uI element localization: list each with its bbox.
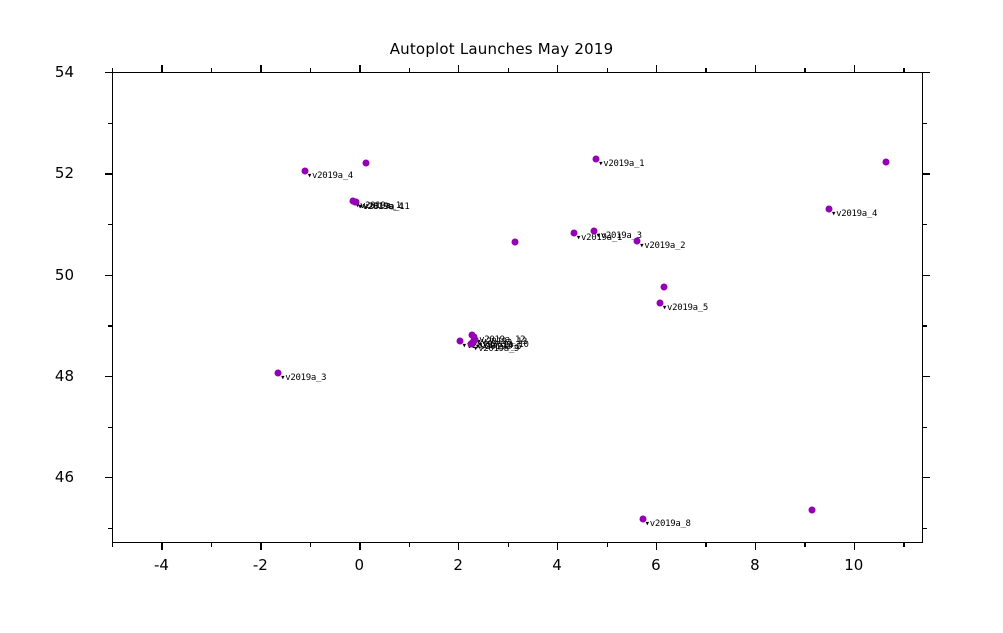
- y-axis-minor-tick-right: [923, 528, 927, 529]
- y-axis-minor-tick-right: [923, 224, 927, 225]
- y-axis-minor-tick: [108, 123, 112, 124]
- x-axis-minor-tick: [508, 543, 509, 547]
- y-axis-minor-tick-right: [923, 325, 927, 326]
- x-axis-tick-label: 4: [552, 556, 562, 574]
- y-axis-minor-tick: [108, 427, 112, 428]
- x-axis-tick-label: 10: [844, 556, 863, 574]
- x-axis-tick: [755, 543, 756, 550]
- y-axis-tick-right: [923, 173, 930, 174]
- y-axis-tick-label: 48: [55, 367, 74, 385]
- x-axis-minor-tick: [310, 543, 311, 547]
- x-axis-tick: [458, 543, 459, 550]
- y-axis-tick-label: 46: [55, 468, 74, 486]
- y-axis-tick: [105, 376, 112, 377]
- x-axis-tick: [260, 543, 261, 550]
- x-axis-minor-tick-top: [903, 68, 904, 72]
- x-axis-tick-label: 6: [651, 556, 661, 574]
- x-axis-minor-tick: [804, 543, 805, 547]
- x-axis-tick-label: 2: [453, 556, 463, 574]
- x-axis-minor-tick-top: [112, 68, 113, 72]
- x-axis-tick-top: [260, 65, 261, 72]
- x-axis-tick-top: [458, 65, 459, 72]
- x-axis-tick: [557, 543, 558, 550]
- y-axis-tick: [105, 173, 112, 174]
- y-axis-tick: [105, 275, 112, 276]
- y-axis-tick-label: 52: [55, 164, 74, 182]
- y-axis-minor-tick-right: [923, 123, 927, 124]
- y-axis-minor-tick-right: [923, 427, 927, 428]
- x-axis-tick: [854, 543, 855, 550]
- x-axis-tick-top: [359, 65, 360, 72]
- x-axis-minor-tick-top: [211, 68, 212, 72]
- x-axis-minor-tick-top: [804, 68, 805, 72]
- x-axis-minor-tick-top: [508, 68, 509, 72]
- x-axis-tick-label: -4: [154, 556, 169, 574]
- x-axis-tick-top: [854, 65, 855, 72]
- y-axis-minor-tick: [108, 528, 112, 529]
- axis-labels-layer: -4-202468104648505254: [0, 0, 1003, 633]
- x-axis-minor-tick-top: [705, 68, 706, 72]
- x-axis-minor-tick: [112, 543, 113, 547]
- y-axis-tick-right: [923, 477, 930, 478]
- y-axis-minor-tick: [108, 224, 112, 225]
- x-axis-minor-tick: [705, 543, 706, 547]
- y-axis-tick-label: 50: [55, 266, 74, 284]
- x-axis-minor-tick-top: [607, 68, 608, 72]
- y-axis-tick: [105, 477, 112, 478]
- y-axis-tick-right: [923, 275, 930, 276]
- figure-canvas: Autoplot Launches May 2019: [0, 0, 1003, 633]
- x-axis-tick: [359, 543, 360, 550]
- x-axis-tick-label: -2: [253, 556, 268, 574]
- x-axis-minor-tick: [607, 543, 608, 547]
- x-axis-tick-label: 0: [354, 556, 364, 574]
- x-axis-minor-tick: [409, 543, 410, 547]
- x-axis-tick: [161, 543, 162, 550]
- x-axis-minor-tick-top: [409, 68, 410, 72]
- x-axis-minor-tick: [211, 543, 212, 547]
- x-axis-minor-tick-top: [310, 68, 311, 72]
- x-axis-tick: [656, 543, 657, 550]
- x-axis-tick-top: [656, 65, 657, 72]
- y-axis-tick-right: [923, 72, 930, 73]
- y-axis-tick: [105, 72, 112, 73]
- x-axis-minor-tick: [903, 543, 904, 547]
- y-axis-tick-right: [923, 376, 930, 377]
- y-axis-minor-tick: [108, 325, 112, 326]
- x-axis-tick-label: 8: [750, 556, 760, 574]
- x-axis-tick-top: [755, 65, 756, 72]
- x-axis-tick-top: [161, 65, 162, 72]
- y-axis-tick-label: 54: [55, 63, 74, 81]
- x-axis-tick-top: [557, 65, 558, 72]
